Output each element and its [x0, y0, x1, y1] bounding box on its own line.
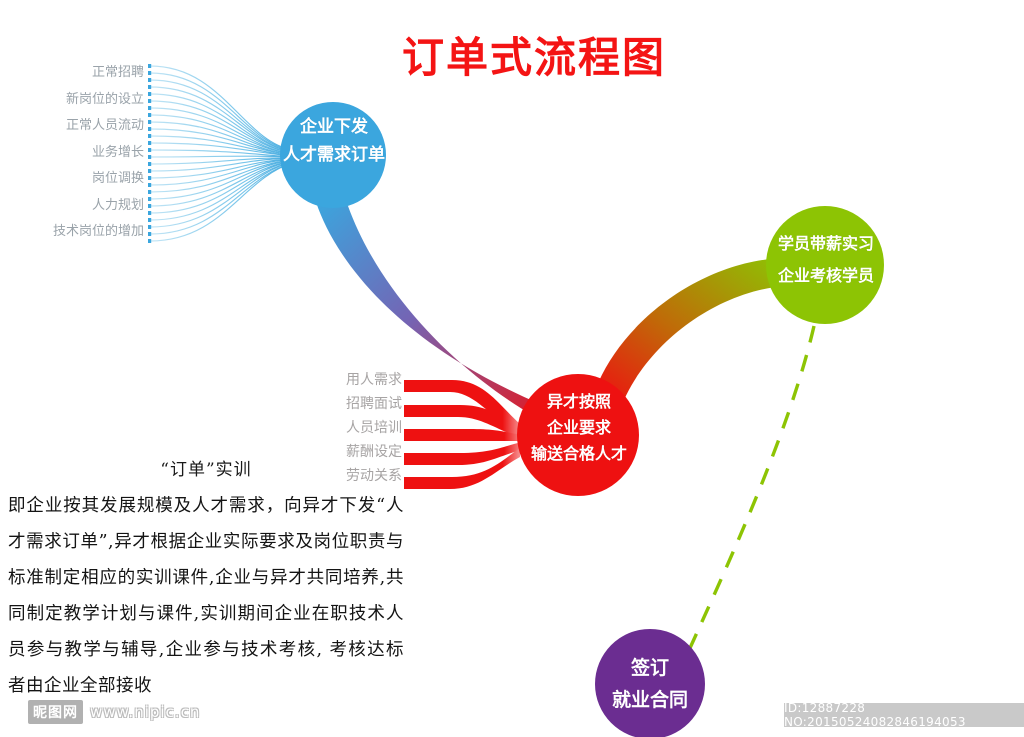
fan-label-item: 业务增长	[20, 140, 144, 167]
description-heading: “订单”实训	[8, 455, 404, 480]
red-branch-label-item: 招聘面试	[312, 392, 402, 416]
blue-fan-lines	[150, 66, 292, 241]
fan-label-item: 正常人员流动	[20, 113, 144, 140]
fan-label-item: 人力规划	[20, 193, 144, 220]
node-green-circle[interactable]	[766, 206, 884, 324]
description-body: 即企业按其发展规模及人才需求，向异才下发“人才需求订单”,异才根据企业实际要求及…	[8, 488, 404, 704]
fan-label-item: 技术岗位的增加	[20, 219, 144, 246]
fan-label-item: 正常招聘	[20, 60, 144, 87]
fan-label-item: 岗位调换	[20, 166, 144, 193]
connector-red-to-green	[596, 258, 784, 400]
stock-id-bar: ID:12887228 NO:20150524082846194053	[784, 703, 1024, 727]
description-block: “订单”实训 即企业按其发展规模及人才需求，向异才下发“人才需求订单”,异才根据…	[8, 455, 404, 704]
fan-label-item: 新岗位的设立	[20, 87, 144, 114]
blue-fan-origin-dots	[148, 64, 151, 243]
connector-green-to-purple-dashed	[690, 326, 814, 648]
node-red-circle[interactable]	[517, 374, 639, 496]
flowchart-canvas: 订单式流程图 正常招聘 新岗位的设立 正常人员流动 业务增长 岗位调换 人力规划…	[0, 0, 1024, 737]
red-branch-label-item: 用人需求	[312, 368, 402, 392]
node-blue-circle[interactable]	[280, 102, 386, 208]
fan-input-label-list: 正常招聘 新岗位的设立 正常人员流动 业务增长 岗位调换 人力规划 技术岗位的增…	[20, 60, 144, 246]
red-branch-label-item: 人员培训	[312, 416, 402, 440]
page-title: 订单式流程图	[384, 24, 684, 85]
node-purple-circle[interactable]	[595, 629, 705, 737]
